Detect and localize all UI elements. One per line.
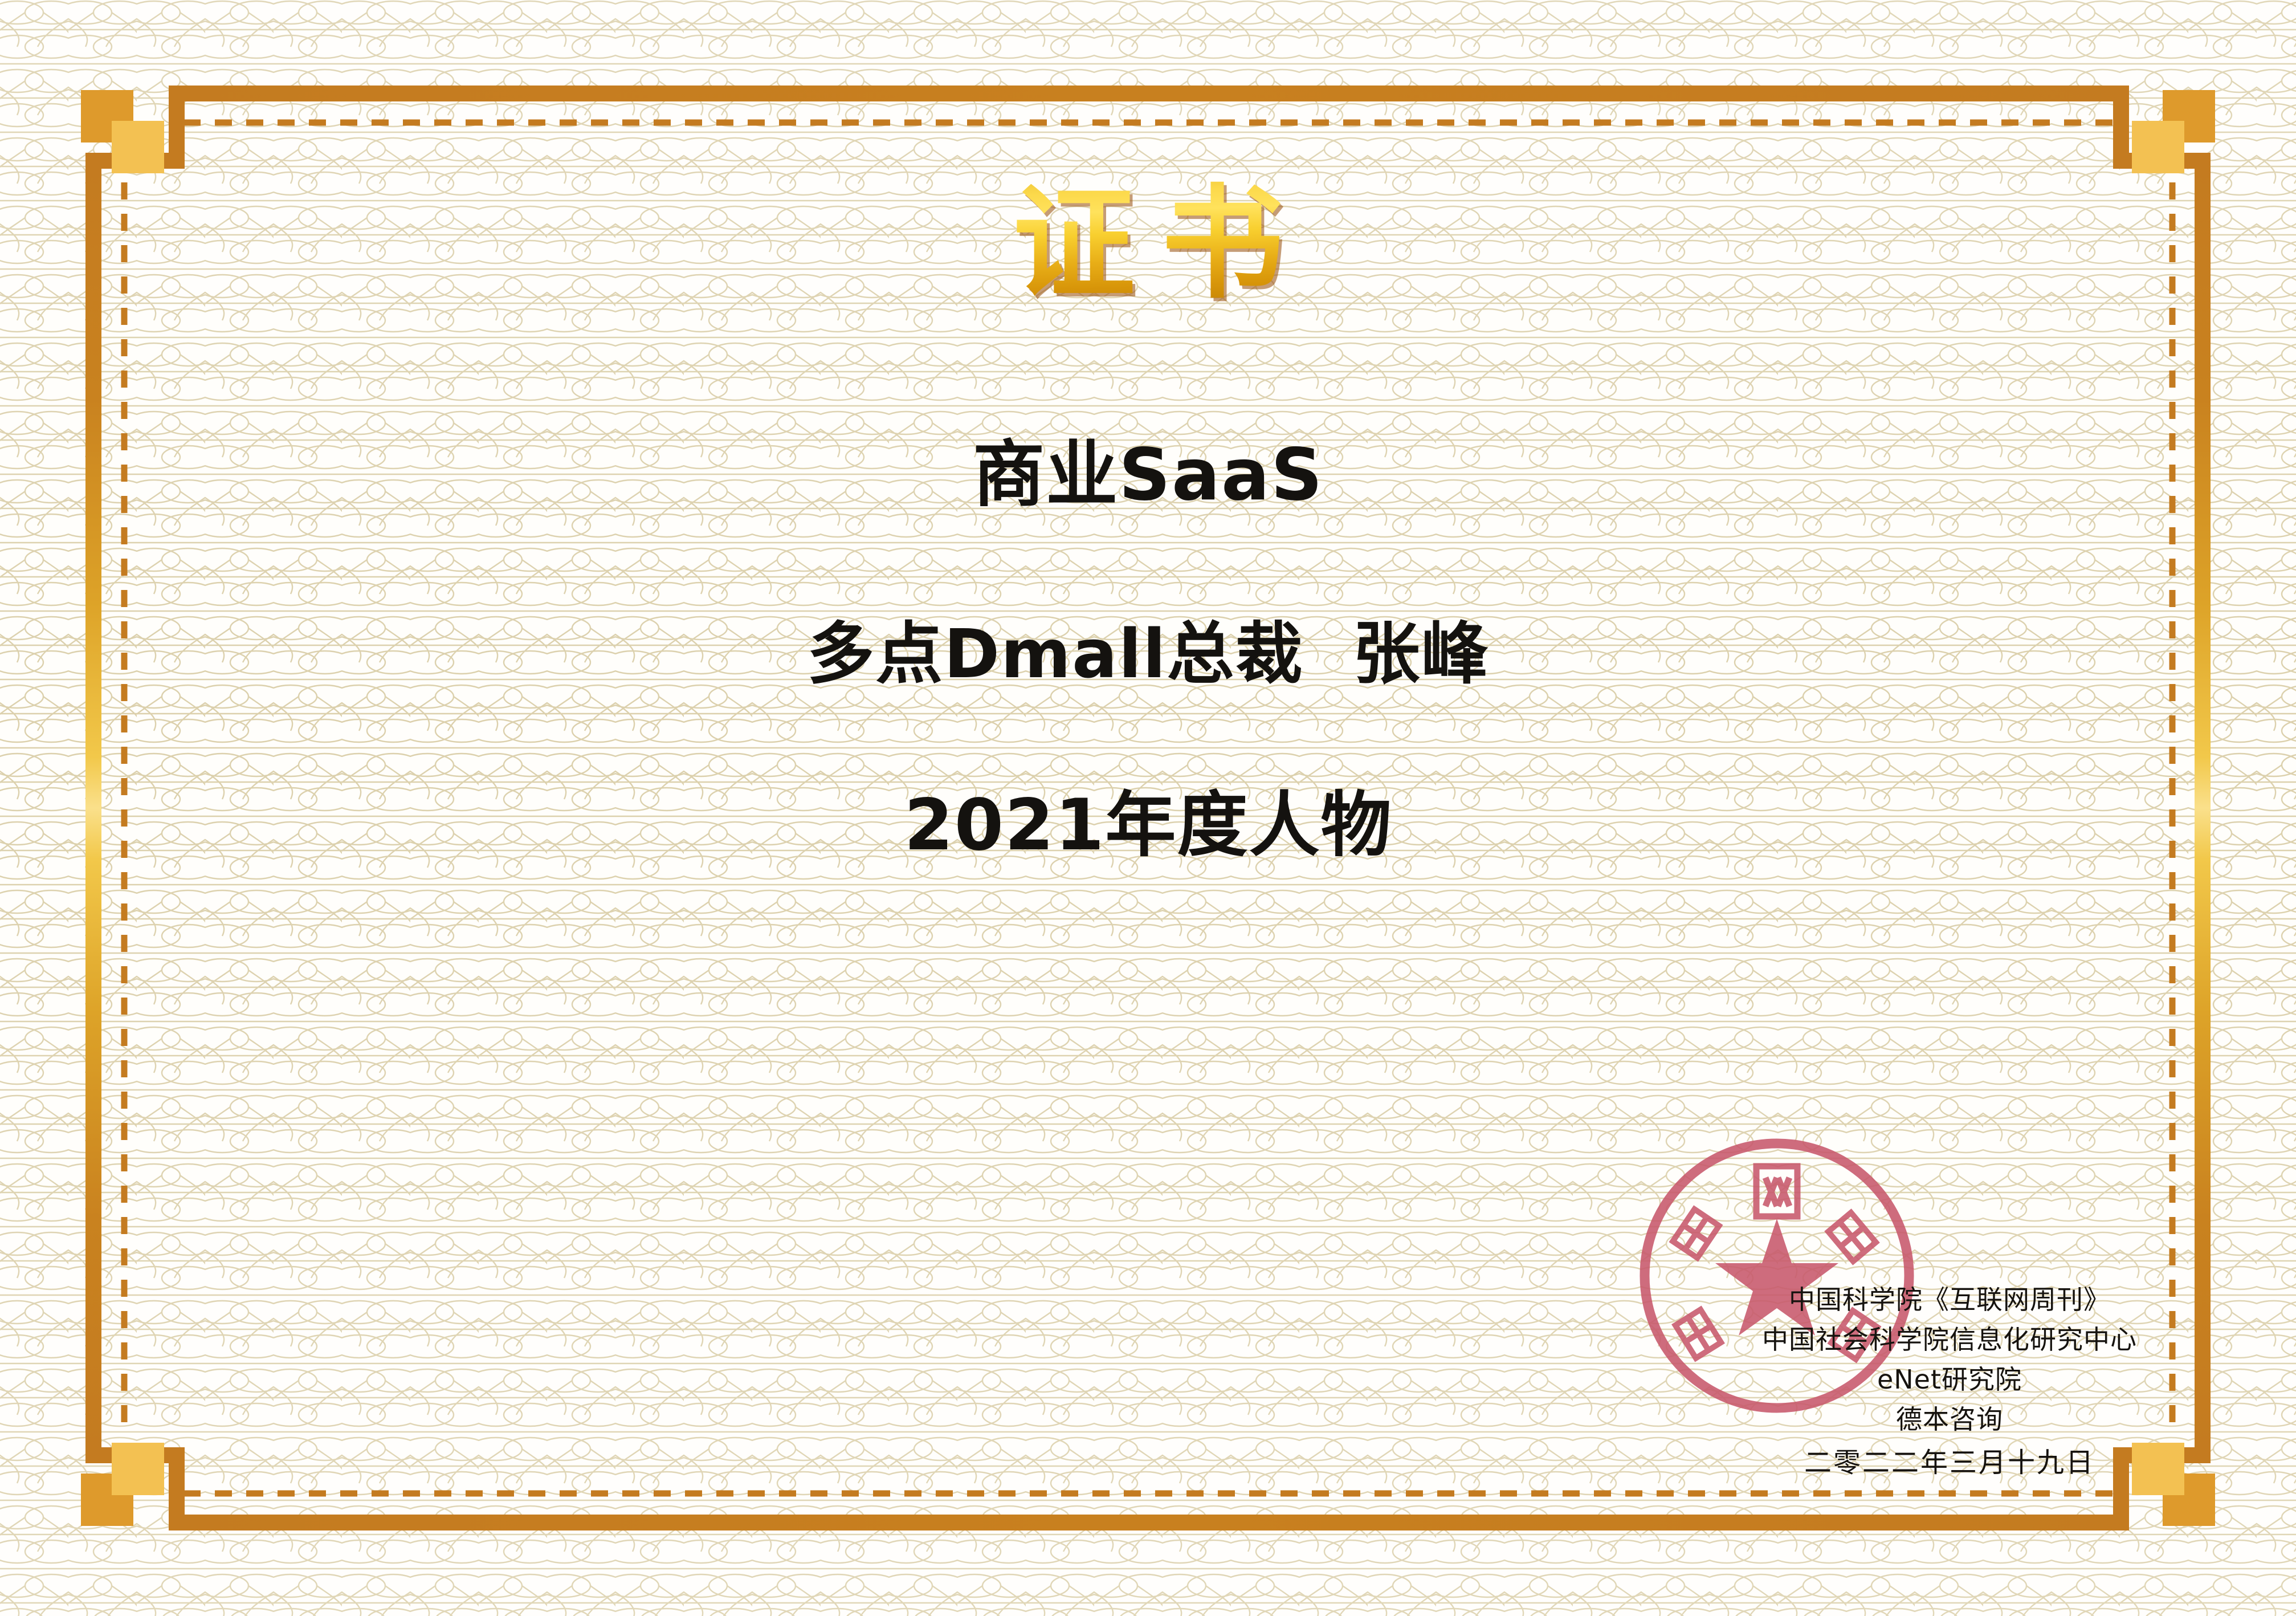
award-name: 2021年度人物 <box>103 790 2194 861</box>
certificate-title-block: 证书 <box>103 180 2194 308</box>
issuer-line-2: 中国社会科学院信息化研究中心 <box>1665 1320 2234 1360</box>
issuer-line-3: eNet研究院 <box>1665 1360 2234 1400</box>
page-title: 证书 <box>986 180 1310 308</box>
signature-block: 中国科学院《互联网周刊》 中国社会科学院信息化研究中心 eNet研究院 德本咨询… <box>1665 1280 2234 1484</box>
certificate-page: 证书 商业SaaS 多点Dmall总裁 张峰 2021年度人物 <box>0 0 2296 1616</box>
award-recipient: 多点Dmall总裁 张峰 <box>103 620 2194 687</box>
certificate-body: 商业SaaS 多点Dmall总裁 张峰 2021年度人物 <box>103 439 2194 861</box>
issuer-line-4: 德本咨询 <box>1665 1400 2234 1440</box>
award-category: 商业SaaS <box>103 439 2194 511</box>
issuer-line-1: 中国科学院《互联网周刊》 <box>1665 1280 2234 1320</box>
issue-date: 二零二二年三月十九日 <box>1665 1442 2234 1484</box>
